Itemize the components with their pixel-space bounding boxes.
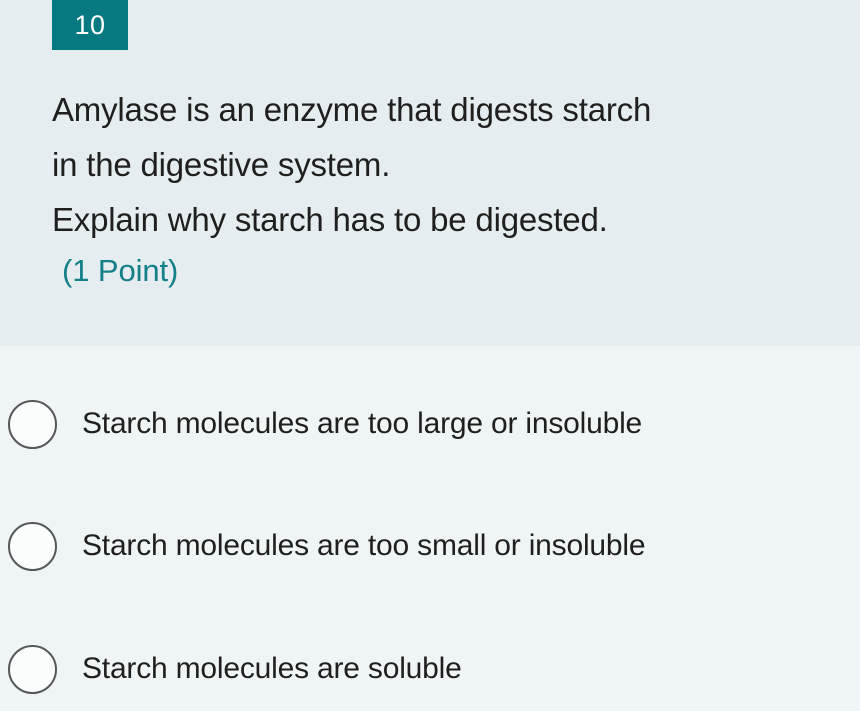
- question-number-badge: 10: [52, 0, 128, 50]
- answer-options-list: Starch molecules are too large or insolu…: [0, 346, 860, 711]
- radio-button-icon[interactable]: [8, 522, 57, 571]
- answer-option-label: Starch molecules are soluble: [82, 649, 462, 689]
- radio-button-icon[interactable]: [8, 400, 57, 449]
- question-text-line: Amylase is an enzyme that digests starch: [52, 82, 847, 137]
- question-panel: 10 Amylase is an enzyme that digests sta…: [0, 0, 860, 346]
- radio-button-icon[interactable]: [8, 645, 57, 694]
- points-label: (1 Point): [62, 250, 178, 292]
- question-text: Amylase is an enzyme that digests starch…: [52, 82, 847, 247]
- question-text-line: Explain why starch has to be digested.: [52, 192, 847, 247]
- answer-option-1[interactable]: Starch molecules are too small or insolu…: [0, 516, 860, 576]
- answer-option-0[interactable]: Starch molecules are too large or insolu…: [0, 394, 860, 454]
- answer-option-2[interactable]: Starch molecules are soluble: [0, 639, 860, 699]
- quiz-question-screen: 10 Amylase is an enzyme that digests sta…: [0, 0, 860, 711]
- question-text-line: in the digestive system.: [52, 137, 847, 192]
- answer-option-label: Starch molecules are too small or insolu…: [82, 526, 645, 566]
- answer-option-label: Starch molecules are too large or insolu…: [82, 404, 642, 444]
